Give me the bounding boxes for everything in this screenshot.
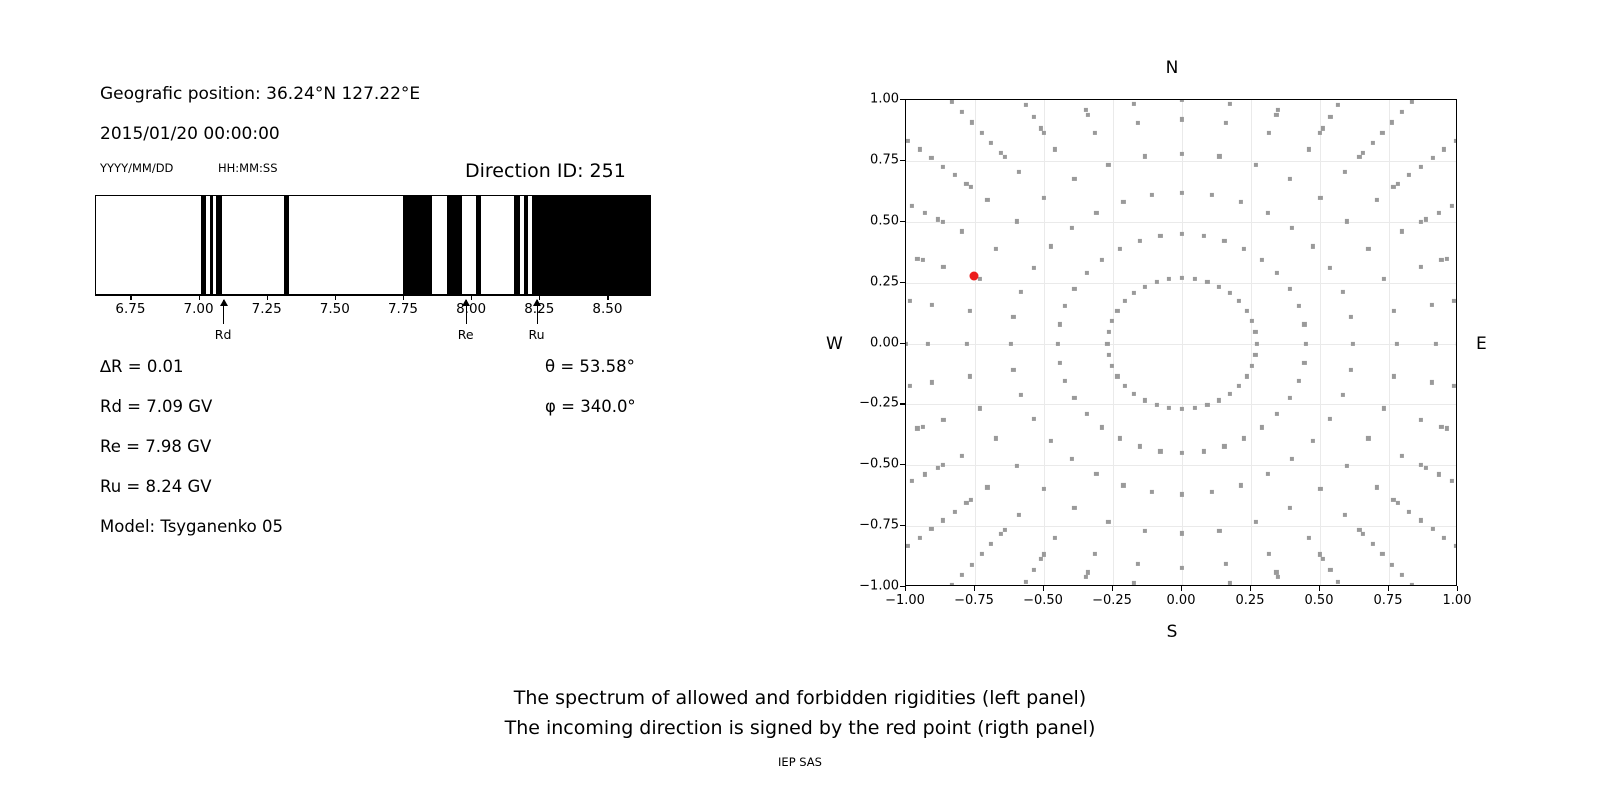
direction-sample-dot (1336, 103, 1340, 107)
direction-sample-dot (1437, 211, 1441, 215)
direction-sample-dot (1180, 99, 1184, 102)
direction-sample-dot (1382, 406, 1386, 410)
direction-sample-dot (1042, 487, 1046, 491)
direction-sample-dot (1410, 583, 1414, 586)
direction-sample-dot (1106, 520, 1110, 524)
direction-sample-dot (1351, 341, 1355, 345)
direction-sample-dot (1049, 438, 1053, 442)
y-tick-mark (900, 464, 905, 465)
direction-sample-dot (1132, 392, 1136, 396)
direction-sample-dot (905, 341, 908, 345)
direction-sample-dot (1228, 392, 1232, 396)
compass-south-label: S (1167, 622, 1178, 642)
direction-sample-dot (1222, 444, 1226, 448)
y-tick-label: 0.50 (870, 213, 899, 228)
direction-sample-dot (1237, 384, 1241, 388)
direction-sample-dot (1150, 490, 1154, 494)
direction-sample-dot (930, 303, 934, 307)
direction-sample-dot (1400, 229, 1404, 233)
direction-sample-dot (1150, 193, 1154, 197)
direction-sample-dot (941, 220, 945, 224)
direction-sample-dot (1085, 412, 1089, 416)
caption-line-1: The spectrum of allowed and forbidden ri… (0, 687, 1600, 709)
direction-sample-dot (1345, 463, 1349, 467)
direction-sample-dot (1154, 403, 1158, 407)
direction-sample-dot (1056, 341, 1060, 345)
y-tick-mark (900, 282, 905, 283)
direction-sample-dot (915, 426, 919, 430)
direction-sample-dot (960, 110, 964, 114)
direction-sample-dot (1015, 219, 1019, 223)
direction-sample-dot (908, 384, 912, 388)
direction-sample-dot (1456, 341, 1457, 345)
direction-sample-dot (1374, 485, 1378, 489)
direction-sample-dot (1137, 238, 1141, 242)
direction-sample-dot (1032, 115, 1036, 119)
direction-sample-dot (1217, 154, 1221, 158)
direction-sample-dot (1154, 280, 1158, 284)
direction-sample-dot (908, 299, 912, 303)
direction-sample-dot (1419, 518, 1423, 522)
direction-sample-dot (1390, 120, 1394, 124)
x-tick-label: −0.75 (954, 593, 994, 608)
direction-plot-area (905, 99, 1457, 586)
direction-map-panel: N S W E −1.00−0.75−0.50−0.250.000.250.50… (0, 0, 1600, 660)
direction-sample-dot (1105, 341, 1109, 345)
direction-sample-dot (1254, 520, 1258, 524)
grid-line-horizontal (906, 344, 1456, 345)
direction-sample-dot (1274, 113, 1278, 117)
direction-sample-dot (1444, 256, 1448, 260)
grid-line-vertical (1044, 100, 1045, 585)
direction-sample-dot (1180, 531, 1184, 535)
y-tick-label: −1.00 (859, 579, 899, 594)
direction-sample-dot (1143, 398, 1147, 402)
direction-sample-dot (1452, 299, 1456, 303)
direction-sample-dot (1011, 368, 1015, 372)
direction-sample-dot (1238, 483, 1242, 487)
direction-sample-dot (1442, 147, 1446, 151)
direction-sample-dot (921, 258, 925, 262)
compass-west-label: W (826, 334, 843, 354)
direction-sample-dot (1290, 226, 1294, 230)
direction-sample-dot (930, 380, 934, 384)
direction-sample-dot (926, 341, 930, 345)
direction-sample-dot (953, 510, 957, 514)
direction-sample-dot (1017, 170, 1021, 174)
direction-sample-dot (1063, 379, 1067, 383)
direction-sample-dot (1244, 374, 1248, 378)
direction-sample-dot (1110, 319, 1114, 323)
direction-sample-dot (906, 139, 910, 143)
direction-sample-dot (929, 156, 933, 160)
direction-sample-dot (1058, 322, 1062, 326)
direction-sample-dot (1321, 126, 1325, 130)
direction-sample-dot (1318, 131, 1322, 135)
direction-sample-dot (1167, 406, 1171, 410)
direction-sample-dot (1115, 309, 1119, 313)
x-tick-label: −0.25 (1092, 593, 1132, 608)
direction-sample-dot (1132, 291, 1136, 295)
direction-sample-dot (1419, 418, 1423, 422)
direction-sample-dot (1374, 197, 1378, 201)
direction-sample-dot (999, 532, 1003, 536)
direction-sample-dot (1167, 277, 1171, 281)
direction-sample-dot (1265, 211, 1269, 215)
direction-sample-dot (1395, 341, 1399, 345)
direction-sample-dot (1242, 247, 1246, 251)
direction-sample-dot (1348, 315, 1352, 319)
grid-line-vertical (1320, 100, 1321, 585)
direction-sample-dot (1253, 353, 1257, 357)
direction-sample-dot (1390, 562, 1394, 566)
direction-sample-dot (1053, 535, 1057, 539)
x-tick-label: 0.00 (1167, 593, 1196, 608)
direction-sample-dot (1424, 466, 1428, 470)
direction-sample-dot (970, 562, 974, 566)
x-tick-mark (1043, 586, 1044, 591)
direction-sample-dot (1250, 319, 1254, 323)
direction-sample-dot (910, 479, 914, 483)
grid-line-vertical (1389, 100, 1390, 585)
direction-sample-dot (1311, 244, 1315, 248)
footer-credit: IEP SAS (0, 755, 1600, 769)
direction-sample-dot (999, 151, 1003, 155)
x-tick-label: 0.50 (1305, 593, 1334, 608)
direction-sample-dot (1407, 173, 1411, 177)
direction-sample-dot (1366, 436, 1370, 440)
direction-sample-dot (1136, 562, 1140, 566)
direction-sample-dot (1143, 154, 1147, 158)
direction-sample-dot (1072, 287, 1076, 291)
x-tick-mark (1181, 586, 1182, 591)
direction-sample-dot (1260, 257, 1264, 261)
y-tick-mark (900, 525, 905, 526)
direction-sample-dot (1158, 233, 1162, 237)
direction-sample-dot (1430, 380, 1434, 384)
direction-sample-dot (968, 498, 972, 502)
direction-sample-dot (1049, 244, 1053, 248)
grid-line-horizontal (906, 222, 1456, 223)
direction-sample-dot (1366, 246, 1370, 250)
x-tick-label: −1.00 (885, 593, 925, 608)
direction-sample-dot (1419, 265, 1423, 269)
grid-line-horizontal (906, 404, 1456, 405)
direction-sample-dot (950, 100, 954, 104)
direction-sample-dot (1039, 557, 1043, 561)
direction-sample-dot (1180, 117, 1184, 121)
direction-sample-dot (1136, 121, 1140, 125)
direction-sample-dot (1180, 151, 1184, 155)
x-tick-label: 1.00 (1443, 593, 1472, 608)
direction-sample-dot (965, 341, 969, 345)
direction-sample-dot (1100, 257, 1104, 261)
x-tick-mark (1388, 586, 1389, 591)
direction-sample-dot (1009, 341, 1013, 345)
direction-sample-dot (1180, 407, 1184, 411)
direction-sample-dot (923, 472, 927, 476)
direction-sample-dot (1158, 449, 1162, 453)
grid-line-vertical (1182, 100, 1183, 585)
direction-sample-dot (1228, 291, 1232, 295)
direction-sample-dot (1267, 552, 1271, 556)
direction-sample-dot (1024, 580, 1028, 584)
direction-sample-dot (1019, 393, 1023, 397)
direction-sample-dot (1274, 570, 1278, 574)
direction-sample-dot (1396, 501, 1400, 505)
x-tick-mark (1319, 586, 1320, 591)
direction-sample-dot (978, 406, 982, 410)
direction-sample-dot (989, 141, 993, 145)
direction-sample-dot (993, 246, 997, 250)
direction-sample-dot (1392, 308, 1396, 312)
y-tick-label: −0.25 (859, 396, 899, 411)
compass-east-label: E (1476, 334, 1487, 354)
direction-sample-dot (1224, 121, 1228, 125)
direction-sample-dot (1222, 238, 1226, 242)
direction-sample-dot (970, 120, 974, 124)
direction-sample-dot (1454, 139, 1457, 143)
direction-sample-dot (1070, 226, 1074, 230)
direction-sample-dot (1193, 406, 1197, 410)
direction-sample-dot (1307, 147, 1311, 151)
direction-sample-dot (1032, 568, 1036, 572)
direction-sample-dot (1217, 284, 1221, 288)
direction-sample-dot (1328, 417, 1332, 421)
direction-sample-dot (1217, 398, 1221, 402)
direction-sample-dot (960, 453, 964, 457)
direction-sample-dot (960, 573, 964, 577)
direction-sample-dot (1287, 396, 1291, 400)
direction-sample-dot (1343, 513, 1347, 517)
x-tick-mark (1112, 586, 1113, 591)
direction-sample-dot (968, 308, 972, 312)
direction-sample-dot (1205, 280, 1209, 284)
direction-sample-dot (941, 265, 945, 269)
direction-sample-dot (1288, 177, 1292, 181)
direction-sample-dot (1085, 271, 1089, 275)
direction-sample-dot (1143, 528, 1147, 532)
direction-sample-dot (1086, 113, 1090, 117)
direction-sample-dot (1297, 304, 1301, 308)
direction-sample-dot (1070, 457, 1074, 461)
direction-sample-dot (968, 374, 972, 378)
direction-sample-dot (1118, 247, 1122, 251)
direction-sample-dot (1254, 163, 1258, 167)
direction-sample-dot (1267, 131, 1271, 135)
direction-sample-dot (1121, 200, 1125, 204)
direction-sample-dot (1307, 535, 1311, 539)
direction-sample-dot (1318, 196, 1322, 200)
direction-sample-dot (923, 211, 927, 215)
direction-sample-dot (1032, 417, 1036, 421)
x-tick-mark (1457, 586, 1458, 591)
direction-sample-dot (1419, 220, 1423, 224)
direction-sample-dot (1084, 108, 1088, 112)
direction-sample-dot (1265, 472, 1269, 476)
direction-sample-dot (1328, 568, 1332, 572)
direction-sample-dot (1430, 156, 1434, 160)
direction-sample-dot (1107, 353, 1111, 357)
direction-sample-dot (1072, 396, 1076, 400)
direction-sample-dot (1454, 544, 1457, 548)
y-tick-label: −0.75 (859, 518, 899, 533)
figure-canvas: Geografic position: 36.24°N 127.22°E 201… (0, 0, 1600, 800)
direction-sample-dot (1094, 211, 1098, 215)
direction-sample-dot (1228, 102, 1232, 106)
direction-sample-dot (1392, 374, 1396, 378)
direction-sample-dot (1419, 165, 1423, 169)
direction-sample-dot (1357, 155, 1361, 159)
direction-sample-dot (1217, 528, 1221, 532)
direction-sample-dot (1143, 284, 1147, 288)
direction-sample-dot (1118, 436, 1122, 440)
direction-sample-dot (1115, 374, 1119, 378)
direction-sample-dot (968, 185, 972, 189)
grid-line-horizontal (906, 283, 1456, 284)
direction-sample-dot (941, 518, 945, 522)
direction-sample-dot (1132, 102, 1136, 106)
direction-sample-dot (1254, 341, 1258, 345)
grid-line-vertical (975, 100, 976, 585)
direction-sample-dot (1275, 412, 1279, 416)
direction-sample-dot (985, 485, 989, 489)
direction-sample-dot (1400, 573, 1404, 577)
direction-sample-dot (915, 256, 919, 260)
direction-sample-dot (1058, 360, 1062, 364)
direction-sample-dot (1228, 581, 1232, 585)
direction-sample-dot (1371, 141, 1375, 145)
direction-sample-dot (978, 276, 982, 280)
x-tick-label: −0.50 (1023, 593, 1063, 608)
grid-line-horizontal (906, 465, 1456, 466)
grid-line-vertical (1251, 100, 1252, 585)
direction-sample-dot (979, 131, 983, 135)
direction-sample-dot (918, 147, 922, 151)
direction-sample-dot (1132, 581, 1136, 585)
direction-sample-dot (1094, 472, 1098, 476)
direction-sample-dot (1380, 131, 1384, 135)
direction-sample-dot (1205, 403, 1209, 407)
direction-sample-dot (960, 229, 964, 233)
direction-sample-dot (1275, 271, 1279, 275)
direction-sample-dot (1439, 258, 1443, 262)
direction-sample-dot (1345, 219, 1349, 223)
y-tick-label: 0.75 (870, 152, 899, 167)
direction-sample-dot (1452, 384, 1456, 388)
direction-sample-dot (918, 535, 922, 539)
direction-sample-dot (1371, 542, 1375, 546)
direction-sample-dot (1343, 170, 1347, 174)
direction-sample-dot (936, 217, 940, 221)
direction-sample-dot (1287, 287, 1291, 291)
direction-sample-dot (1042, 131, 1046, 135)
x-tick-mark (905, 586, 906, 591)
direction-sample-dot (1180, 565, 1184, 569)
direction-sample-dot (1106, 163, 1110, 167)
direction-sample-dot (1015, 463, 1019, 467)
direction-sample-dot (1123, 384, 1127, 388)
direction-sample-dot (929, 527, 933, 531)
direction-sample-dot (1084, 575, 1088, 579)
y-tick-mark (900, 99, 905, 100)
direction-sample-dot (1180, 451, 1184, 455)
direction-sample-dot (964, 501, 968, 505)
y-tick-mark (900, 343, 905, 344)
direction-sample-dot (1137, 444, 1141, 448)
direction-sample-dot (1017, 513, 1021, 517)
direction-sample-dot (1341, 290, 1345, 294)
x-tick-label: 0.75 (1374, 593, 1403, 608)
direction-sample-dot (1361, 532, 1365, 536)
direction-sample-dot (1011, 315, 1015, 319)
direction-sample-dot (1430, 303, 1434, 307)
direction-sample-dot (964, 182, 968, 186)
direction-sample-dot (1093, 131, 1097, 135)
direction-sample-dot (1407, 510, 1411, 514)
direction-sample-dot (1311, 438, 1315, 442)
y-tick-label: 1.00 (870, 92, 899, 107)
direction-sample-dot (1072, 177, 1076, 181)
direction-sample-dot (936, 466, 940, 470)
grid-line-horizontal (906, 526, 1456, 527)
direction-sample-dot (941, 165, 945, 169)
direction-sample-dot (1121, 483, 1125, 487)
y-tick-mark (900, 221, 905, 222)
direction-sample-dot (1450, 204, 1454, 208)
direction-sample-dot (1210, 193, 1214, 197)
direction-sample-dot (1290, 457, 1294, 461)
y-tick-label: 0.00 (870, 335, 899, 350)
direction-sample-dot (1032, 266, 1036, 270)
direction-sample-dot (1237, 299, 1241, 303)
direction-sample-dot (941, 418, 945, 422)
direction-sample-dot (1297, 379, 1301, 383)
direction-sample-dot (1100, 425, 1104, 429)
direction-sample-dot (1180, 276, 1184, 280)
direction-sample-dot (1238, 200, 1242, 204)
direction-sample-dot (1400, 110, 1404, 114)
direction-sample-dot (989, 542, 993, 546)
direction-sample-dot (1086, 570, 1090, 574)
direction-sample-dot (1107, 330, 1111, 334)
direction-sample-dot (1336, 580, 1340, 584)
grid-line-horizontal (906, 161, 1456, 162)
direction-sample-dot (1442, 535, 1446, 539)
direction-sample-dot (921, 425, 925, 429)
direction-sample-dot (1276, 108, 1280, 112)
direction-sample-dot (1123, 299, 1127, 303)
direction-sample-dot (1450, 479, 1454, 483)
y-tick-label: 0.25 (870, 274, 899, 289)
direction-sample-dot (1180, 492, 1184, 496)
direction-sample-dot (1318, 487, 1322, 491)
caption-line-2: The incoming direction is signed by the … (0, 717, 1600, 739)
direction-sample-dot (910, 204, 914, 208)
direction-sample-dot (1253, 330, 1257, 334)
direction-sample-dot (953, 173, 957, 177)
direction-sample-dot (1434, 341, 1438, 345)
direction-sample-dot (1380, 552, 1384, 556)
direction-sample-dot (1093, 552, 1097, 556)
direction-sample-dot (1302, 360, 1306, 364)
compass-north-label: N (1166, 58, 1179, 78)
direction-sample-dot (1072, 506, 1076, 510)
direction-sample-dot (1180, 232, 1184, 236)
direction-sample-dot (1382, 276, 1386, 280)
direction-sample-dot (1321, 557, 1325, 561)
direction-sample-dot (1437, 472, 1441, 476)
